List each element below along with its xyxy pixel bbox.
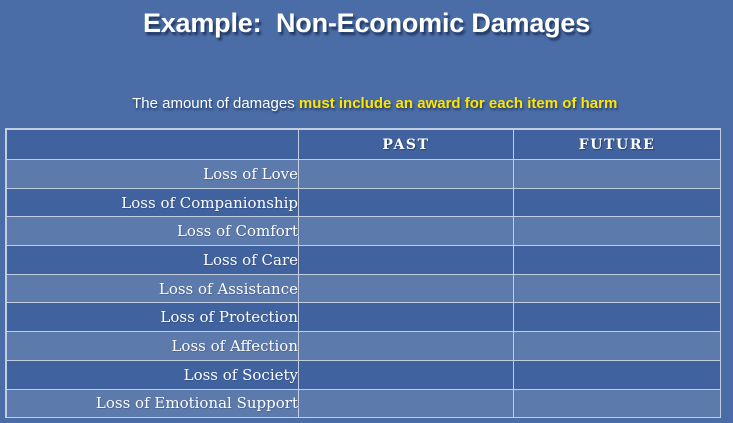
row-label: Loss of Emotional Support — [7, 389, 299, 418]
cell-past[interactable] — [299, 303, 514, 332]
cell-future[interactable] — [514, 303, 721, 332]
cell-past[interactable] — [299, 217, 514, 246]
row-label: Loss of Society — [7, 360, 299, 389]
cell-future[interactable] — [514, 160, 721, 189]
cell-future[interactable] — [514, 360, 721, 389]
row-label: Loss of Love — [7, 160, 299, 189]
damages-table-container: PAST FUTURE Loss of LoveLoss of Companio… — [5, 128, 721, 418]
table-header-row: PAST FUTURE — [7, 130, 721, 160]
cell-future[interactable] — [514, 188, 721, 217]
cell-future[interactable] — [514, 217, 721, 246]
cell-past[interactable] — [299, 332, 514, 361]
row-label: Loss of Assistance — [7, 274, 299, 303]
table-row: Loss of Protection — [7, 303, 721, 332]
cell-future[interactable] — [514, 389, 721, 418]
damages-table: PAST FUTURE Loss of LoveLoss of Companio… — [6, 129, 721, 418]
table-row: Loss of Affection — [7, 332, 721, 361]
table-header-past: PAST — [299, 130, 514, 160]
cell-past[interactable] — [299, 360, 514, 389]
table-row: Loss of Companionship — [7, 188, 721, 217]
row-label: Loss of Comfort — [7, 217, 299, 246]
page-title: Example: Non-Economic Damages — [0, 8, 733, 39]
table-header-future: FUTURE — [514, 130, 721, 160]
row-label: Loss of Companionship — [7, 188, 299, 217]
slide: Example: Non-Economic Damages The amount… — [0, 0, 733, 423]
table-row: Loss of Comfort — [7, 217, 721, 246]
cell-past[interactable] — [299, 160, 514, 189]
cell-future[interactable] — [514, 274, 721, 303]
cell-past[interactable] — [299, 188, 514, 217]
table-row: Loss of Society — [7, 360, 721, 389]
table-header-corner — [7, 130, 299, 160]
row-label: Loss of Care — [7, 246, 299, 275]
cell-past[interactable] — [299, 274, 514, 303]
cell-future[interactable] — [514, 332, 721, 361]
row-label: Loss of Protection — [7, 303, 299, 332]
row-label: Loss of Affection — [7, 332, 299, 361]
subtitle: The amount of damages must include an aw… — [0, 78, 733, 129]
cell-past[interactable] — [299, 389, 514, 418]
table-header: PAST FUTURE — [7, 130, 721, 160]
subtitle-highlighted-text: must include an award for each item of h… — [299, 95, 617, 112]
cell-past[interactable] — [299, 246, 514, 275]
table-body: Loss of LoveLoss of CompanionshipLoss of… — [7, 160, 721, 418]
table-row: Loss of Love — [7, 160, 721, 189]
subtitle-plain-text: The amount of damages — [132, 95, 299, 112]
cell-future[interactable] — [514, 246, 721, 275]
table-row: Loss of Care — [7, 246, 721, 275]
table-row: Loss of Emotional Support — [7, 389, 721, 418]
table-row: Loss of Assistance — [7, 274, 721, 303]
